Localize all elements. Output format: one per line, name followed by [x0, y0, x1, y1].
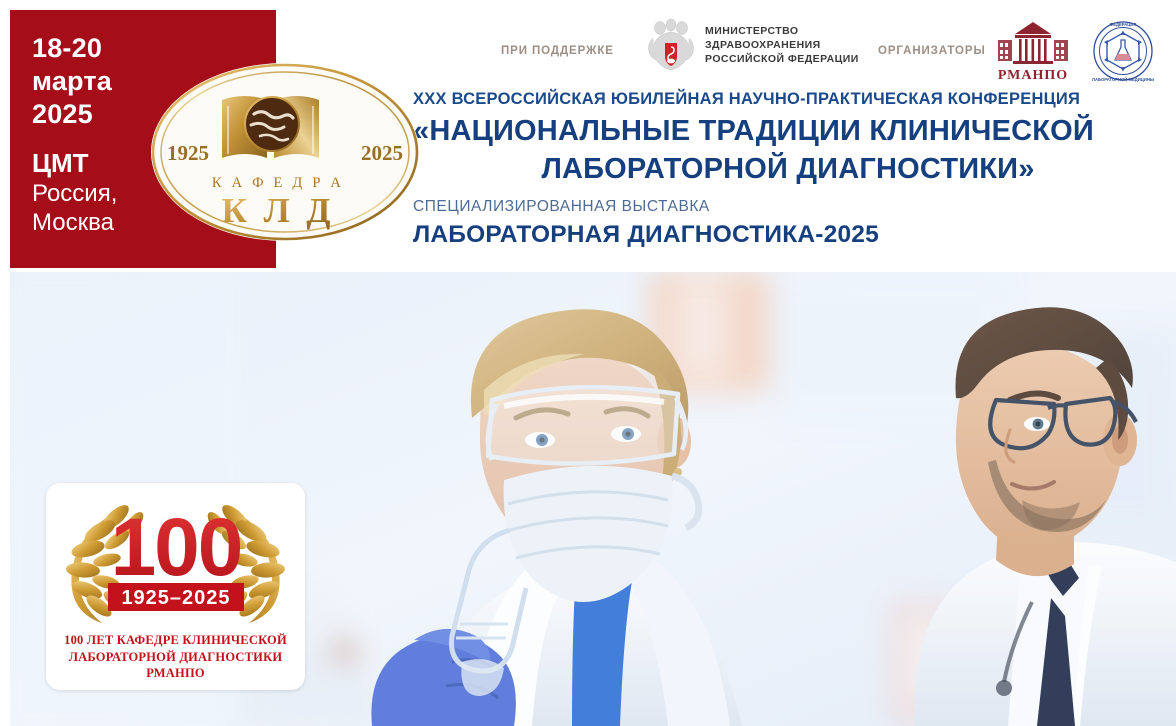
- centenary-emblem-icon: 100 1925–2025: [46, 483, 305, 636]
- centenary-badge: 100 1925–2025 100 ЛЕТ КАФЕДРЕ КЛИНИЧЕСКО…: [46, 483, 305, 690]
- title-block: XXX ВСЕРОССИЙСКАЯ ЮБИЛЕЙНАЯ НАУЧНО-ПРАКТ…: [413, 90, 1173, 250]
- organizers-label: ОРГАНИЗАТОРЫ: [878, 45, 986, 57]
- conference-title-line-1: «НАЦИОНАЛЬНЫЕ ТРАДИЦИИ КЛИНИЧЕСКОЙ: [413, 115, 1173, 149]
- federation-flask-icon: ФЕДЕРАЦИЯ ЛАБОРАТОРНОЙ МЕДИЦИНЫ: [1087, 18, 1159, 84]
- rmanpo-logo: РМАНПО: [993, 18, 1073, 89]
- centenary-caption-line-1: 100 ЛЕТ КАФЕДРЕ КЛИНИЧЕСКОЙ: [46, 632, 305, 649]
- kld-department-emblem-icon: 1925 2025 К А Ф Е Д Р А К Л Д: [150, 62, 420, 242]
- centenary-years: 1925–2025: [121, 587, 230, 609]
- expo-name: ЛАБОРАТОРНАЯ ДИАГНОСТИКА-2025: [413, 221, 1173, 250]
- supporters-row: ПРИ ПОДДЕРЖКЕ МИНИСТЕР: [495, 30, 1170, 92]
- ministry-of-health-block: МИНИСТЕРСТВО ЗДРАВООХРАНЕНИЯ РОССИЙСКОЙ …: [645, 16, 859, 74]
- federation-ring-text-top: ФЕДЕРАЦИЯ: [1110, 22, 1137, 27]
- russian-eagle-icon: [645, 16, 697, 74]
- support-label: ПРИ ПОДДЕРЖКЕ: [501, 45, 614, 57]
- conference-title-line-2: ЛАБОРАТОРНОЙ ДИАГНОСТИКИ»: [413, 153, 1163, 187]
- event-dates: 18-20: [32, 32, 276, 65]
- ministry-text: МИНИСТЕРСТВО ЗДРАВООХРАНЕНИЯ РОССИЙСКОЙ …: [705, 24, 859, 67]
- expo-label: СПЕЦИАЛИЗИРОВАННАЯ ВЫСТАВКА: [413, 198, 1173, 217]
- conference-kicker: XXX ВСЕРОССИЙСКАЯ ЮБИЛЕЙНАЯ НАУЧНО-ПРАКТ…: [413, 90, 1173, 110]
- emblem-year-left: 1925: [167, 141, 209, 165]
- emblem-caption-small: К А Ф Е Д Р А: [212, 175, 344, 191]
- federation-lab-medicine-logo: ФЕДЕРАЦИЯ ЛАБОРАТОРНОЙ МЕДИЦИНЫ: [1087, 18, 1159, 89]
- rmanpo-building-icon: РМАНПО: [993, 18, 1073, 84]
- centenary-caption-line-3: РМАНПО: [46, 665, 305, 682]
- emblem-year-right: 2025: [361, 141, 403, 165]
- ministry-line-1: МИНИСТЕРСТВО: [705, 24, 859, 38]
- centenary-caption-line-2: ЛАБОРАТОРНОЙ ДИАГНОСТИКИ: [46, 649, 305, 666]
- poster-header: 18-20 марта 2025 ЦМТ Россия, Москва: [0, 0, 1176, 272]
- conference-poster: 18-20 марта 2025 ЦМТ Россия, Москва: [0, 0, 1176, 726]
- centenary-caption: 100 ЛЕТ КАФЕДРЕ КЛИНИЧЕСКОЙ ЛАБОРАТОРНОЙ…: [46, 632, 305, 682]
- ministry-line-3: РОССИЙСКОЙ ФЕДЕРАЦИИ: [705, 52, 859, 66]
- ministry-line-2: ЗДРАВООХРАНЕНИЯ: [705, 38, 859, 52]
- centenary-number: 100: [111, 502, 242, 593]
- emblem-caption-big: К Л Д: [221, 191, 334, 230]
- federation-ring-text-bottom: ЛАБОРАТОРНОЙ МЕДИЦИНЫ: [1092, 77, 1154, 82]
- rmanpo-label: РМАНПО: [998, 68, 1068, 83]
